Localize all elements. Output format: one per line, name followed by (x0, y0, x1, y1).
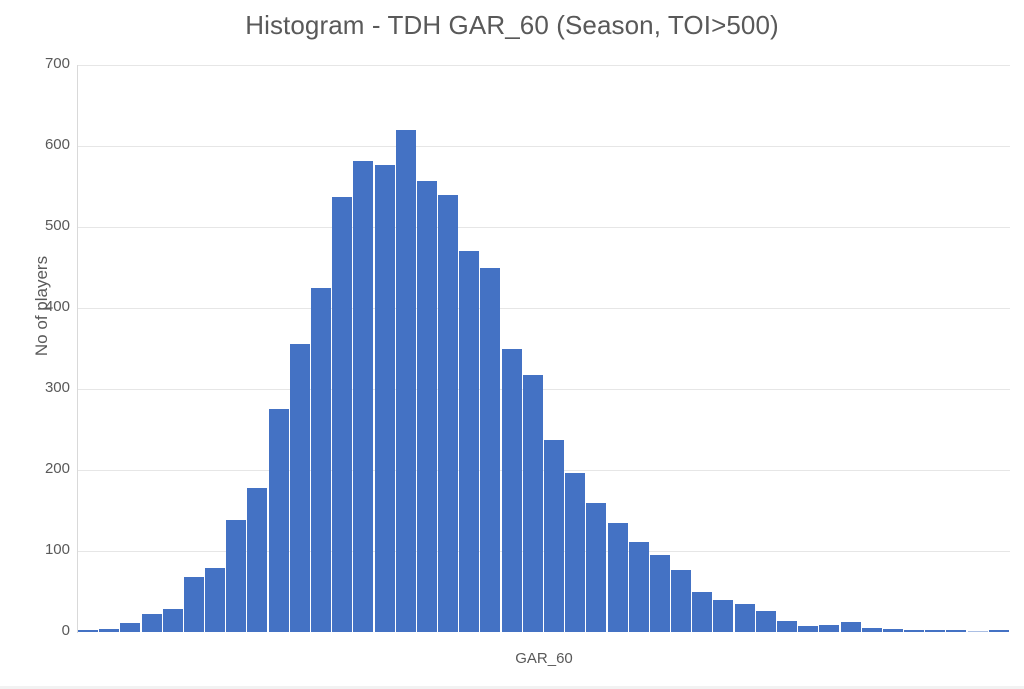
histogram-bar (819, 625, 839, 632)
histogram-bar (862, 628, 882, 632)
histogram-bar (205, 568, 225, 632)
histogram-bar (459, 251, 479, 632)
histogram-bar (396, 130, 416, 632)
histogram-bar (523, 375, 543, 632)
histogram-bar (735, 604, 755, 632)
histogram-bar (841, 622, 861, 632)
histogram-bar (650, 555, 670, 632)
histogram-bar (608, 523, 628, 632)
y-axis-tick-label: 600 (8, 136, 70, 153)
histogram-bar (883, 629, 903, 632)
chart-title: Histogram - TDH GAR_60 (Season, TOI>500) (0, 10, 1024, 41)
bar-series (78, 65, 1010, 632)
histogram-bar (502, 349, 522, 632)
histogram-bar (78, 630, 98, 632)
histogram-bar (777, 621, 797, 632)
histogram-bar (247, 488, 267, 632)
histogram-bar (798, 626, 818, 632)
x-axis-title: GAR_60 (78, 650, 1010, 667)
histogram-bar (480, 268, 500, 633)
histogram-bar (989, 630, 1009, 632)
histogram-bar (353, 161, 373, 632)
y-axis-tick-label: 0 (8, 622, 70, 639)
y-axis-tick-label: 100 (8, 541, 70, 558)
histogram-bar (269, 409, 289, 632)
histogram-bar (968, 631, 988, 633)
histogram-bar (692, 592, 712, 633)
histogram-bar (544, 440, 564, 632)
y-axis-tick-label: 200 (8, 460, 70, 477)
histogram-bar (332, 197, 352, 632)
histogram-bar (290, 344, 310, 632)
histogram-bar (586, 503, 606, 632)
histogram-bar (438, 195, 458, 632)
histogram-bar (671, 570, 691, 632)
histogram-bar (756, 611, 776, 632)
histogram-bar (311, 288, 331, 632)
histogram-bar (713, 600, 733, 632)
histogram-bar (226, 520, 246, 632)
histogram-bar (163, 609, 183, 632)
histogram-bar (904, 630, 924, 632)
histogram-bar (184, 577, 204, 632)
histogram-bar (120, 623, 140, 632)
histogram-bar (925, 630, 945, 632)
histogram-bar (417, 181, 437, 632)
plot-area (78, 65, 1010, 632)
histogram-bar (99, 629, 119, 632)
histogram-bar (629, 542, 649, 632)
histogram-bar (375, 165, 395, 632)
histogram-bar (142, 614, 162, 632)
histogram-bar (565, 473, 585, 632)
y-axis-title: No of players (32, 226, 52, 386)
histogram-bar (946, 630, 966, 632)
y-axis-tick-label: 700 (8, 55, 70, 72)
histogram-chart: Histogram - TDH GAR_60 (Season, TOI>500)… (0, 0, 1024, 689)
